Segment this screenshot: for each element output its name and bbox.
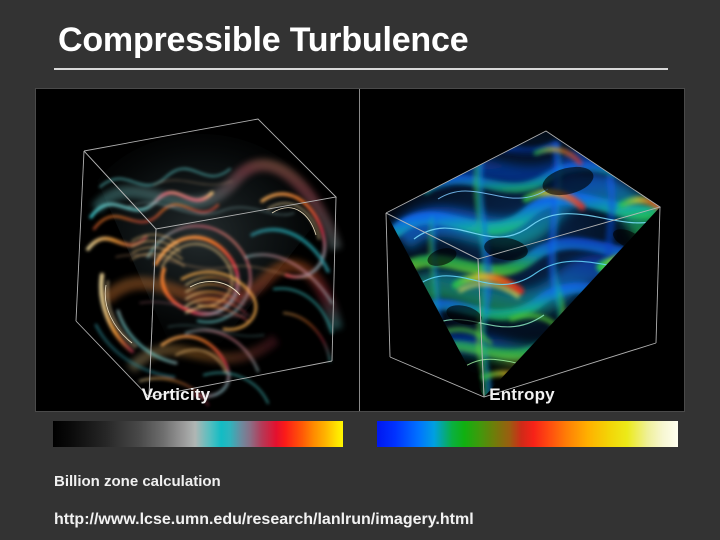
page-title: Compressible Turbulence [58,18,678,62]
slide-canvas: Compressible Turbulence [0,0,720,540]
colorbar-entropy [377,421,678,447]
panel-entropy[interactable]: Entropy [360,89,684,411]
vorticity-render [36,89,360,411]
panel-divider [359,89,360,411]
colorbar-vorticity [53,421,343,447]
panel-label-vorticity: Vorticity [36,385,338,405]
caption-text: Billion zone calculation [54,473,221,490]
panel-vorticity[interactable]: Vorticity [36,89,360,411]
source-url[interactable]: http://www.lcse.umn.edu/research/lanlrun… [54,511,474,529]
panel-label-entropy: Entropy [360,385,684,405]
visualization-stage: Vorticity [35,88,685,412]
entropy-render [360,89,684,411]
title-divider [54,68,668,70]
